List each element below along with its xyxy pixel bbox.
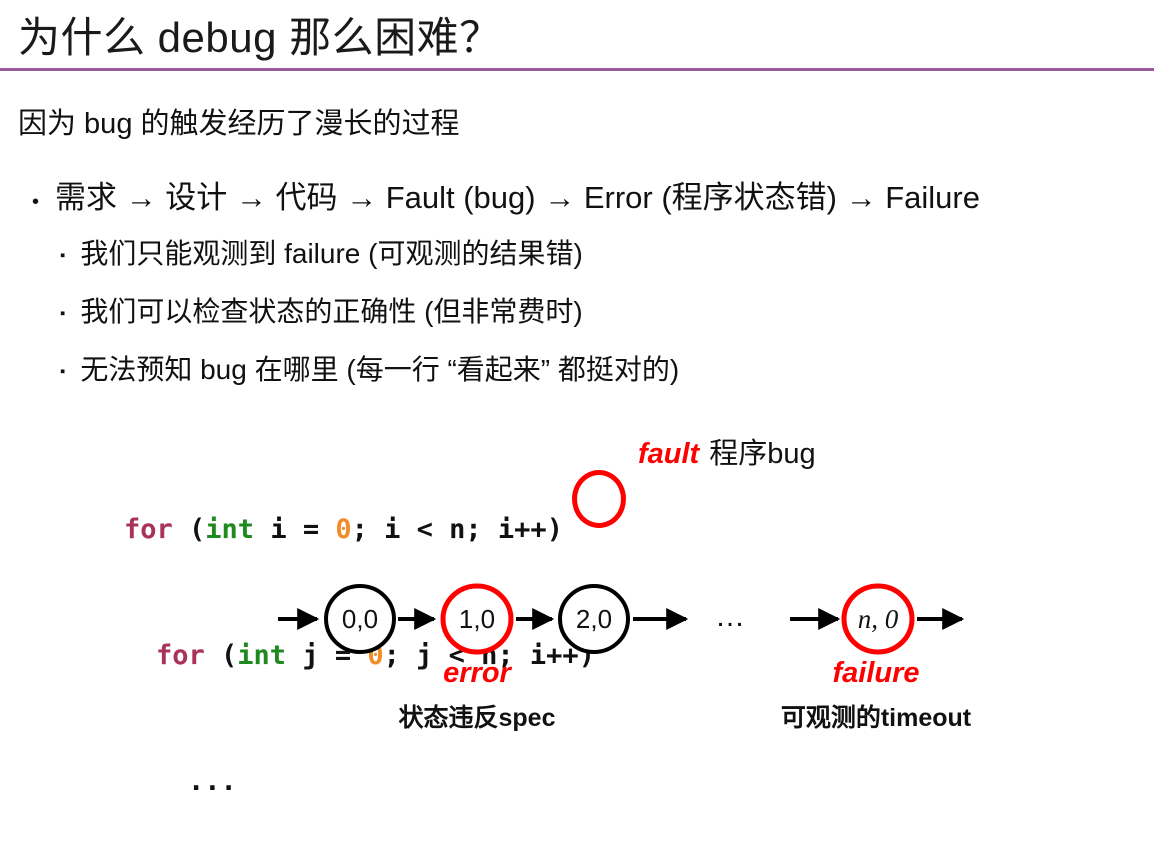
- code-keyword-for: for: [124, 514, 173, 545]
- state-node-0-0-label: 0,0: [342, 604, 378, 634]
- diagram-ellipsis: …: [715, 600, 745, 633]
- bullet-level1-text: 需求 → 设计 → 代码 → Fault (bug) → Error (程序状态…: [55, 172, 980, 217]
- page-title: 为什么 debug 那么困难？: [18, 4, 502, 65]
- code-loop-condition: ; i < n; i++): [352, 514, 563, 545]
- bullet-level2-text: 我们只能观测到 failure (可观测的结果错): [80, 232, 582, 272]
- failure-note: 可观测的timeout: [781, 703, 972, 732]
- bullet-square-icon: ▪: [60, 364, 65, 379]
- state-node-2-0-label: 2,0: [576, 604, 612, 634]
- code-var-init: i =: [254, 514, 335, 545]
- bullet-level2-text: 无法预知 bug 在哪里 (每一行 “看起来” 都挺对的): [80, 348, 679, 388]
- state-node-n-0-label: n, 0: [858, 604, 899, 634]
- state-transition-diagram: 0,0 1,0 2,0 … n, 0 error 状态违反spec failur…: [0, 560, 1154, 740]
- bullet-level2-check-state: ▪ 我们可以检查状态的正确性 (但非常费时): [60, 290, 583, 330]
- code-type-int: int: [205, 514, 254, 545]
- bullet-level1: • 需求 → 设计 → 代码 → Fault (bug) → Error (程序…: [32, 172, 980, 217]
- code-line-outer-for: for (int i = 0; i < n; i++): [124, 509, 595, 551]
- state-node-1-0-label: 1,0: [459, 604, 495, 634]
- fault-term: fault: [638, 438, 699, 470]
- code-punct-open: (: [173, 514, 206, 545]
- bullet-level2-observe-failure: ▪ 我们只能观测到 failure (可观测的结果错): [60, 232, 583, 272]
- title-divider: [0, 68, 1154, 71]
- fault-annotation: fault程序bug: [638, 430, 816, 472]
- error-note: 状态违反spec: [399, 704, 556, 732]
- error-term: error: [443, 657, 512, 689]
- bullet-level2-unpredictable-bug: ▪ 无法预知 bug 在哪里 (每一行 “看起来” 都挺对的): [60, 348, 679, 388]
- bullet-square-icon: ▪: [60, 306, 65, 321]
- lead-paragraph: 因为 bug 的触发经历了漫长的过程: [18, 100, 460, 142]
- bullet-level2-text: 我们可以检查状态的正确性 (但非常费时): [80, 290, 582, 330]
- fault-note: 程序bug: [709, 438, 815, 470]
- bullet-square-icon: ▪: [60, 248, 65, 263]
- code-line-ellipsis: ...: [124, 761, 595, 803]
- failure-term: failure: [832, 657, 919, 689]
- code-number-zero: 0: [335, 514, 351, 545]
- bullet-dot-icon: •: [32, 192, 39, 212]
